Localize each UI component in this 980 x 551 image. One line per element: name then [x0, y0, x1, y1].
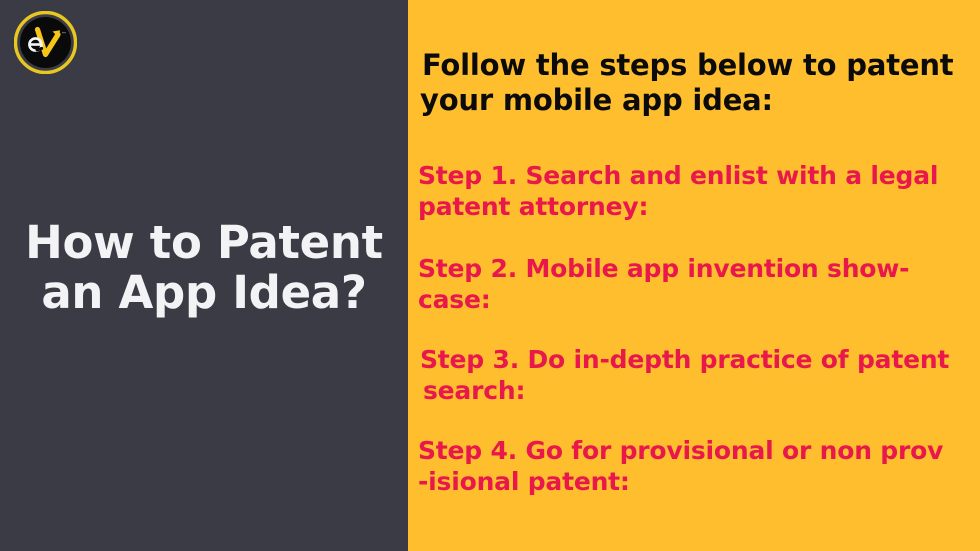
instructions-heading: Follow the steps below to patent your mo… [420, 48, 980, 119]
step-2-line-1: Step 2. Mobile app invention show- [418, 253, 980, 284]
page-title: How to Patent an App Idea? [0, 218, 408, 319]
steps-list: Step 1. Search and enlist with a legal p… [408, 160, 980, 497]
left-panel: ™ How to Patent an App Idea? [0, 0, 408, 551]
step-item-2: Step 2. Mobile app invention show- case: [408, 253, 980, 316]
step-3-line-2: search: [420, 375, 980, 406]
evince-circular-logo: ™ [14, 11, 77, 74]
instructions-heading-line-2: your mobile app idea: [420, 83, 980, 118]
instructions-heading-line-1: Follow the steps below to patent [420, 48, 980, 83]
trademark-glyph: ™ [62, 32, 67, 38]
right-panel: Follow the steps below to patent your mo… [408, 0, 980, 551]
step-2-line-2: case: [418, 284, 980, 315]
step-item-3: Step 3. Do in-depth practice of patent s… [408, 344, 980, 407]
step-item-4: Step 4. Go for provisional or non prov -… [408, 435, 980, 498]
step-4-line-2: -isional patent: [418, 466, 980, 497]
step-1-line-2: patent attorney: [418, 191, 980, 222]
step-4-line-1: Step 4. Go for provisional or non prov [418, 435, 980, 466]
step-item-1: Step 1. Search and enlist with a legal p… [408, 160, 980, 223]
step-3-line-1: Step 3. Do in-depth practice of patent [420, 344, 980, 375]
step-1-line-1: Step 1. Search and enlist with a legal [418, 160, 980, 191]
page-title-line-2: App Idea? [119, 266, 367, 319]
slide-root: ™ How to Patent an App Idea? Follow the … [0, 0, 980, 551]
